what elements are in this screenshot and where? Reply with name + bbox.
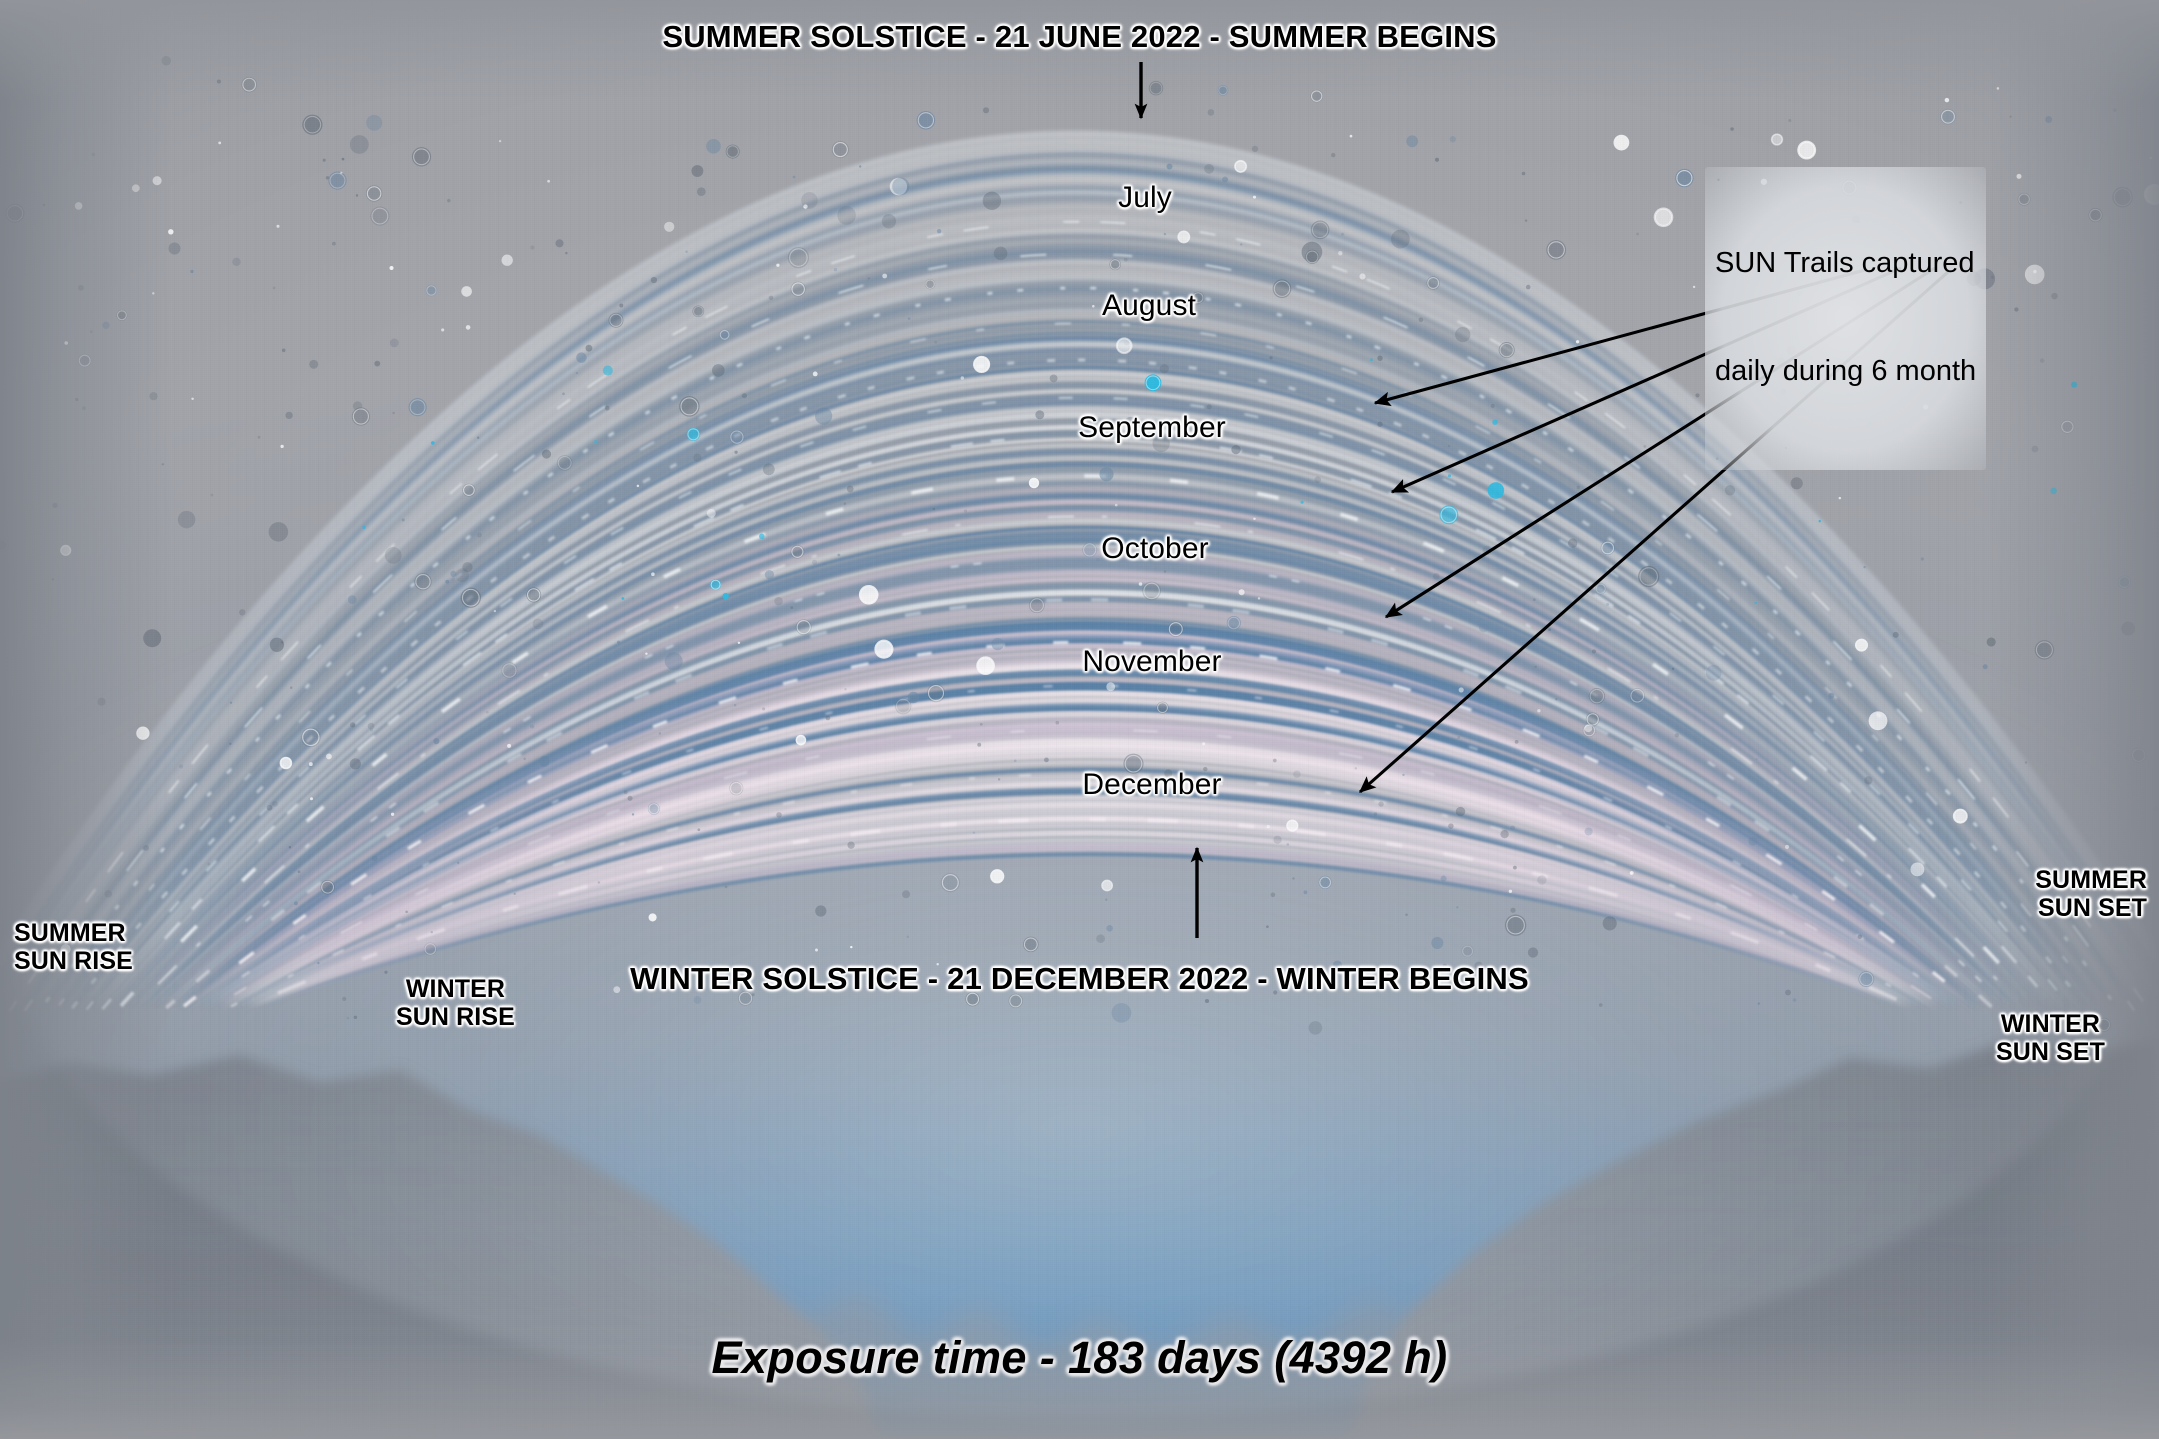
exposure-time-caption: Exposure time - 183 days (4392 h): [711, 1334, 1447, 1382]
winter-solstice-label: WINTER SOLSTICE - 21 DECEMBER 2022 - WIN…: [630, 963, 1529, 996]
summer-sun-rise-label: SUMMER SUN RISE: [14, 919, 133, 975]
month-label-july: July: [1118, 182, 1172, 214]
sun-trails-callout-line-1: SUN Trails captured: [1715, 246, 1976, 282]
sun-trails-callout-line-2: daily during 6 month: [1715, 354, 1976, 390]
month-label-august: August: [1102, 290, 1196, 322]
solargraph-image: SUMMER SOLSTICE - 21 JUNE 2022 - SUMMER …: [0, 0, 2159, 1439]
winter-sun-rise-label: WINTER SUN RISE: [396, 975, 515, 1031]
month-label-september: September: [1078, 412, 1226, 444]
month-label-november: November: [1082, 646, 1221, 678]
summer-solstice-label: SUMMER SOLSTICE - 21 JUNE 2022 - SUMMER …: [662, 21, 1496, 54]
sun-trails-callout: SUN Trails captured daily during 6 month: [1705, 167, 1986, 470]
summer-sun-set-label: SUMMER SUN SET: [2035, 866, 2147, 922]
month-label-october: October: [1101, 533, 1208, 565]
winter-sun-set-label: WINTER SUN SET: [1996, 1010, 2105, 1066]
month-label-december: December: [1082, 769, 1221, 801]
